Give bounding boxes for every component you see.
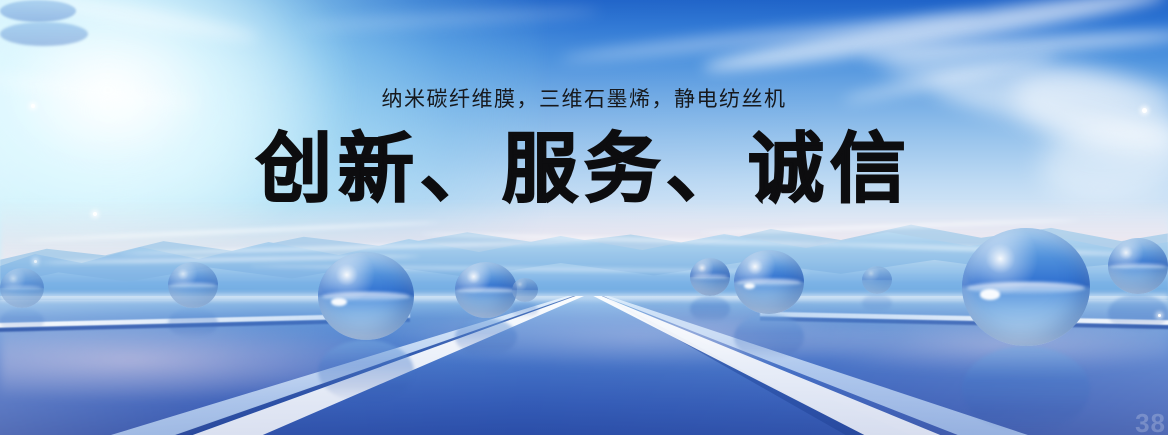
banner-subtitle: 纳米碳纤维膜，三维石墨烯，静电纺丝机 <box>0 86 1168 114</box>
banner-headline: 创新、服务、诚信 <box>0 128 1168 212</box>
hero-banner: 纳米碳纤维膜，三维石墨烯，静电纺丝机 创新、服务、诚信 38 <box>0 0 1168 435</box>
banner-text-block: 纳米碳纤维膜，三维石墨烯，静电纺丝机 创新、服务、诚信 <box>0 0 1168 435</box>
corner-watermark: 38 <box>1135 408 1166 435</box>
